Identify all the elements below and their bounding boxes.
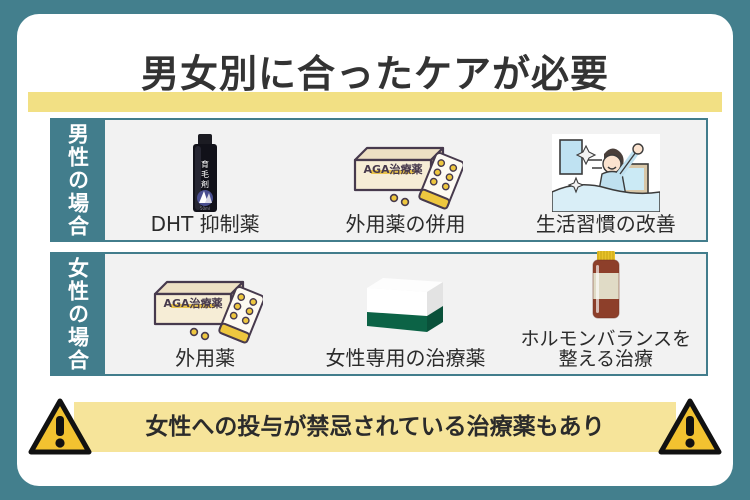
header: 男女別に合ったケアが必要 xyxy=(17,44,733,116)
item-hormone-balance-treatment: ホルモンバランスを 整える治療 xyxy=(506,254,706,374)
item-label: ホルモンバランスを 整える治療 xyxy=(521,327,692,370)
supplement-bottle-icon xyxy=(506,249,706,327)
item-label: 生活習慣の改善 xyxy=(536,212,676,236)
item-lifestyle-improvement: 生活習慣の改善 xyxy=(506,120,706,240)
item-topical-combination: AGA治療薬 xyxy=(305,120,505,240)
row-male: 男性の場合 育 毛 剤 xyxy=(50,118,708,242)
svg-text:AGA治療薬: AGA治療薬 xyxy=(164,296,224,310)
row-female-panel: AGA治療薬 xyxy=(105,252,708,376)
svg-text:AGA治療薬: AGA治療薬 xyxy=(364,162,424,176)
item-label: 外用薬の併用 xyxy=(345,212,465,236)
item-label: 外用薬 xyxy=(175,346,235,370)
footer-text: 女性への投与が禁忌されている治療薬もあり xyxy=(74,402,676,452)
row-male-panel: 育 毛 剤 50ml DHT 抑制薬 xyxy=(105,118,708,242)
page-title: 男女別に合ったケアが必要 xyxy=(17,44,733,104)
white-green-medicine-box-icon xyxy=(305,268,505,346)
row-label-male-text: 男性の場合 xyxy=(66,123,88,238)
warning-triangle-icon xyxy=(658,398,722,456)
aga-medicine-box-icon: AGA治療薬 xyxy=(305,134,505,212)
svg-text:育: 育 xyxy=(201,159,209,169)
row-label-female-text: 女性の場合 xyxy=(66,257,88,372)
footer-warning: 女性への投与が禁忌されている治療薬もあり xyxy=(28,398,722,460)
item-female-specific-medicine: 女性専用の治療薬 xyxy=(305,254,505,374)
infographic-card: 男女別に合ったケアが必要 男性の場合 育 毛 剤 xyxy=(17,14,733,486)
aga-medicine-box-icon: AGA治療薬 xyxy=(105,268,305,346)
row-label-male: 男性の場合 xyxy=(50,118,105,242)
item-topical-medicine: AGA治療薬 xyxy=(105,254,305,374)
hair-tonic-bottle-icon: 育 毛 剤 50ml xyxy=(105,134,305,212)
item-dht-inhibitor: 育 毛 剤 50ml DHT 抑制薬 xyxy=(105,120,305,240)
item-label: DHT 抑制薬 xyxy=(151,212,260,236)
row-female: 女性の場合 AGA治療薬 xyxy=(50,252,708,376)
row-label-female: 女性の場合 xyxy=(50,252,105,376)
svg-text:毛: 毛 xyxy=(201,169,209,179)
infographic-frame: 男女別に合ったケアが必要 男性の場合 育 毛 剤 xyxy=(0,0,750,500)
svg-text:50ml: 50ml xyxy=(200,206,210,211)
person-waking-up-icon xyxy=(506,134,706,212)
item-label: 女性専用の治療薬 xyxy=(325,346,485,370)
svg-text:剤: 剤 xyxy=(201,179,209,189)
